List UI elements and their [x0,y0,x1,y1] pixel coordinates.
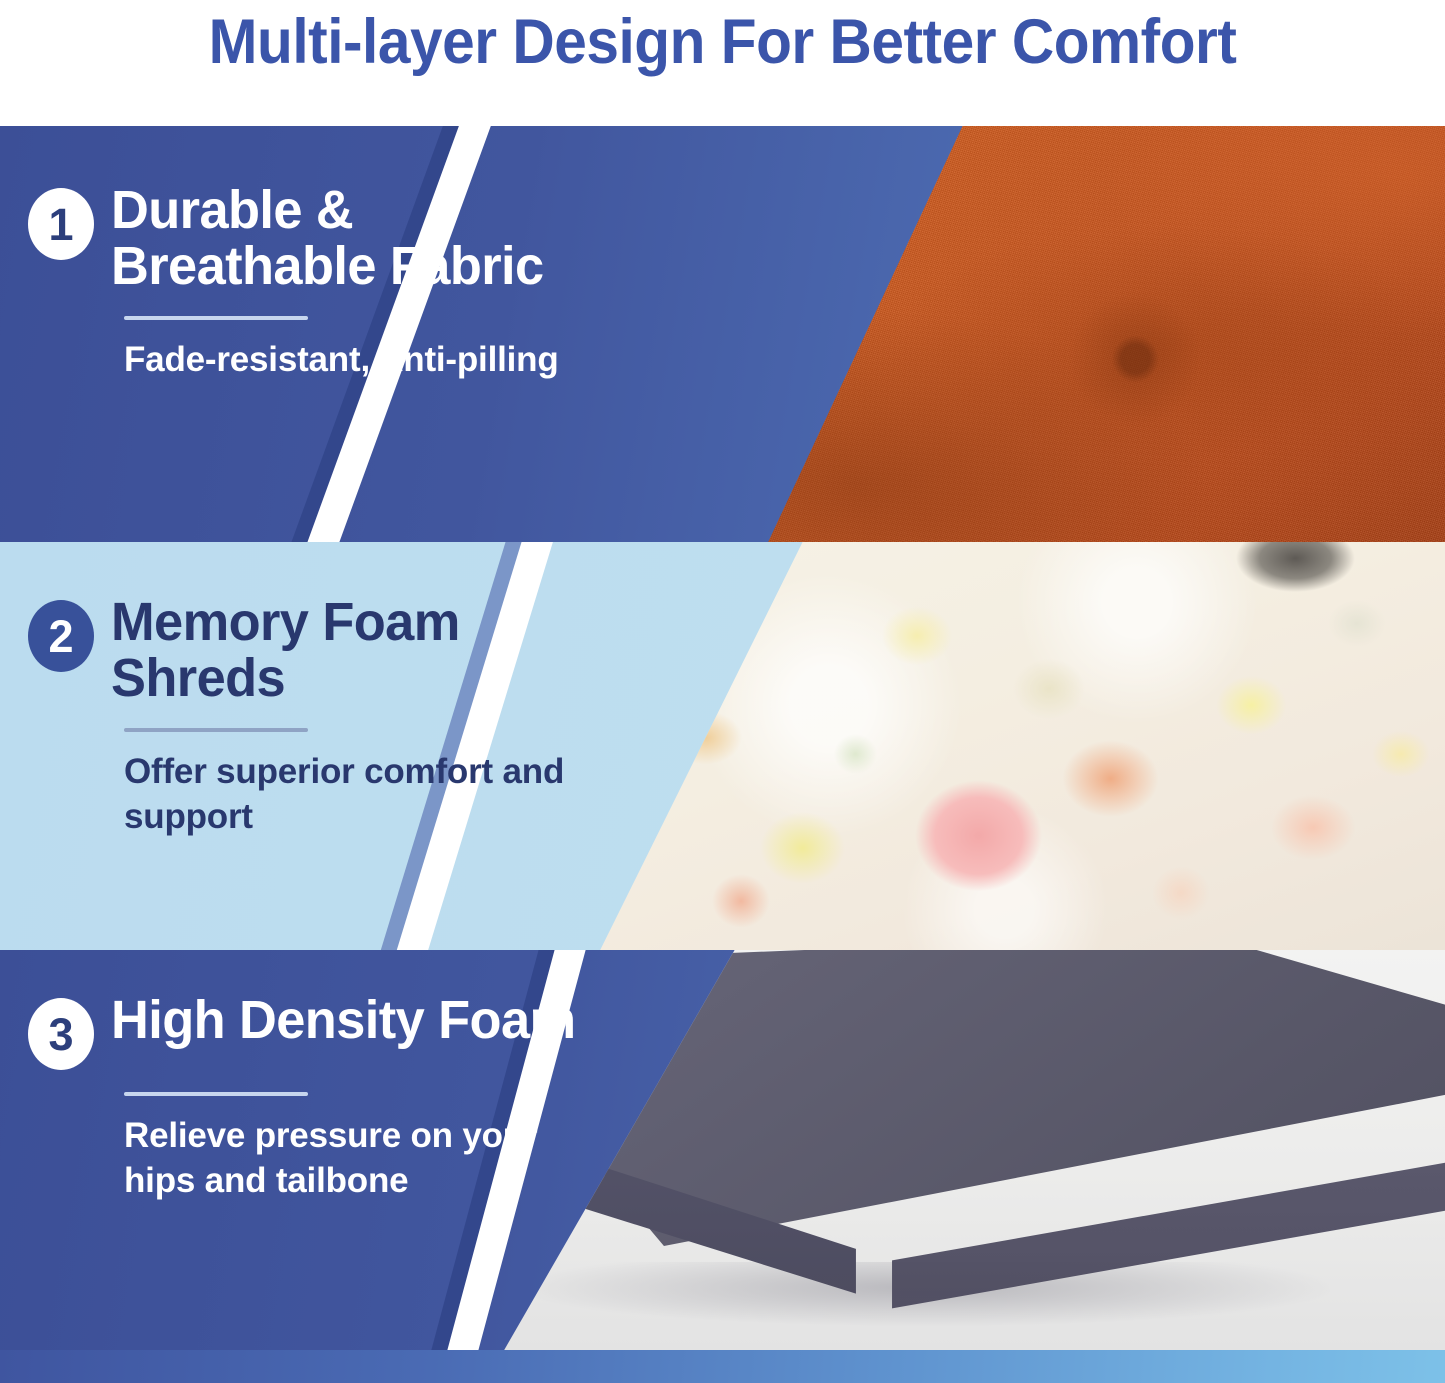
panel-3-subtext: Relieve pressure on your hips and tailbo… [124,1114,594,1204]
step-badge-3: 3 [28,998,94,1070]
feature-panel-2: 2 Memory Foam Shreds Offer superior comf… [0,542,1445,950]
poster-title-bar: Multi-layer Design For Better Comfort [0,0,1445,84]
panel-3-content: 3 High Density Foam Relieve pressure on … [28,992,648,1204]
panel-1-divider [124,316,308,320]
feature-panel-3: 3 High Density Foam Relieve pressure on … [0,950,1445,1350]
panel-3-heading: High Density Foam [111,992,575,1048]
infographic-poster: Multi-layer Design For Better Comfort 1 … [0,0,1445,1383]
step-badge-1: 1 [28,188,94,260]
page-title: Multi-layer Design For Better Comfort [209,11,1237,74]
panel-2-divider [124,728,308,732]
bottom-gradient-strip [0,1350,1445,1383]
panel-3-divider [124,1092,308,1096]
panel-1-content: 1 Durable & Breathable Fabric Fade-resis… [28,182,648,383]
panel-2-subtext: Offer superior comfort and support [124,750,594,840]
foam-shadow [523,1262,1329,1326]
panel-1-subtext: Fade-resistant, Anti-pilling [124,338,594,383]
panel-2-content: 2 Memory Foam Shreds Offer superior comf… [28,594,648,840]
panel-1-heading-row: 1 Durable & Breathable Fabric [28,182,648,294]
feature-panel-1: 1 Durable & Breathable Fabric Fade-resis… [0,126,1445,542]
step-badge-2: 2 [28,600,94,672]
panel-2-heading: Memory Foam Shreds [111,594,632,706]
panel-1-heading: Durable & Breathable Fabric [111,182,632,294]
panel-2-heading-row: 2 Memory Foam Shreds [28,594,648,706]
panel-3-heading-row: 3 High Density Foam [28,992,648,1070]
